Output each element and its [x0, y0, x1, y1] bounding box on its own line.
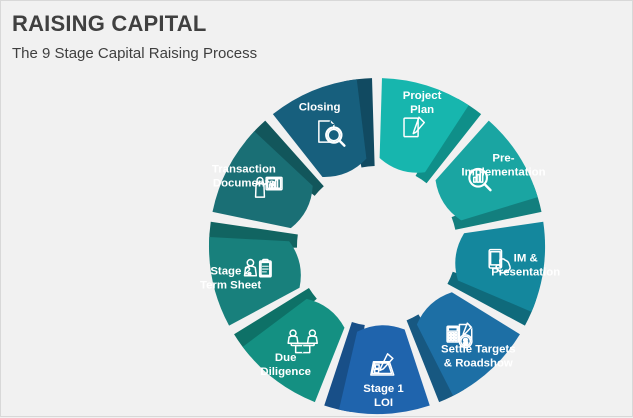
segment-label-closing: Closing [299, 101, 341, 113]
cycle-donut-svg: $ [187, 73, 567, 418]
capital-raising-cycle-diagram: $ [187, 73, 567, 418]
page-subtitle: The 9 Stage Capital Raising Process [12, 45, 257, 62]
page-title: RAISING CAPITAL [12, 11, 206, 37]
segment-body [243, 299, 345, 402]
